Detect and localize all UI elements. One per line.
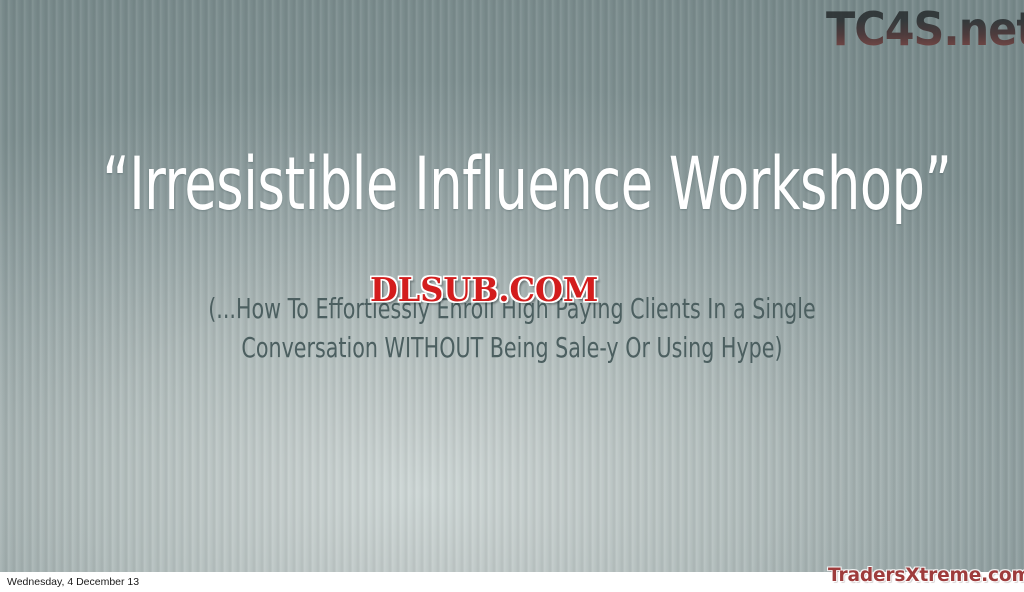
slide-footer: Wednesday, 4 December 13: [0, 572, 1024, 592]
slide-title: “Irresistible Influence Workshop”: [102, 148, 921, 221]
slide-background-vignette: [0, 0, 1024, 572]
presentation-slide-viewer: “Irresistible Influence Workshop” (...Ho…: [0, 0, 1024, 592]
slide-canvas: “Irresistible Influence Workshop” (...Ho…: [0, 0, 1024, 572]
watermark-tc4s: TC4S.net: [826, 2, 1024, 56]
slide-subtitle-block: (...How To Effortlessly Enroll High Payi…: [112, 290, 912, 367]
slide-subtitle: (...How To Effortlessly Enroll High Payi…: [184, 290, 840, 367]
footer-date: Wednesday, 4 December 13: [7, 576, 139, 588]
slide-title-block: “Irresistible Influence Workshop”: [0, 148, 1024, 221]
slide-background-stripes: [0, 0, 1024, 572]
